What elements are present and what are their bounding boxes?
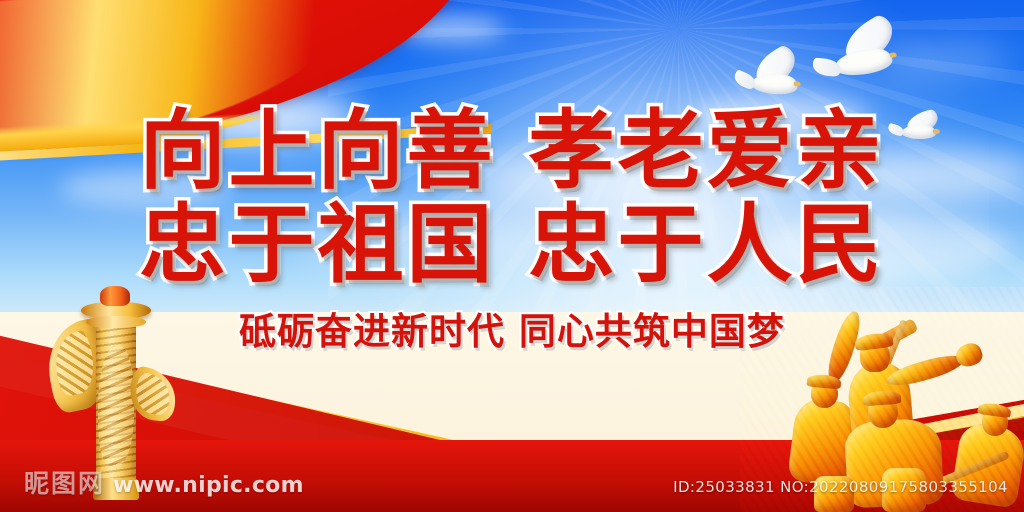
- watermark-logo: 昵图网 www.nipic.com: [24, 464, 304, 500]
- dove-beak: [793, 81, 800, 87]
- sculpture-outstretched-arm: [885, 351, 965, 391]
- huabiao-dragon-carving: [98, 346, 134, 466]
- poster-canvas: 向上向善 孝老爱亲 忠于祖国 忠于人民 砥砺奋进新时代 同心共筑中国梦 昵图网 …: [0, 0, 1024, 512]
- headline-line-1: 向上向善 孝老爱亲: [0, 104, 1024, 198]
- dove-body: [751, 72, 799, 97]
- watermark-id-text: ID:25033831 NO:20220809175803355104: [673, 478, 1008, 496]
- watermark-site-name: 昵图网: [24, 464, 105, 500]
- headline-line-2: 忠于祖国 忠于人民: [0, 198, 1024, 292]
- dove-large-icon: [813, 22, 918, 95]
- poster-subtitle: 砥砺奋进新时代 同心共筑中国梦: [0, 310, 1024, 354]
- watermark-site-url: www.nipic.com: [113, 473, 304, 498]
- dove-body: [833, 47, 893, 78]
- dove-beak: [889, 52, 897, 58]
